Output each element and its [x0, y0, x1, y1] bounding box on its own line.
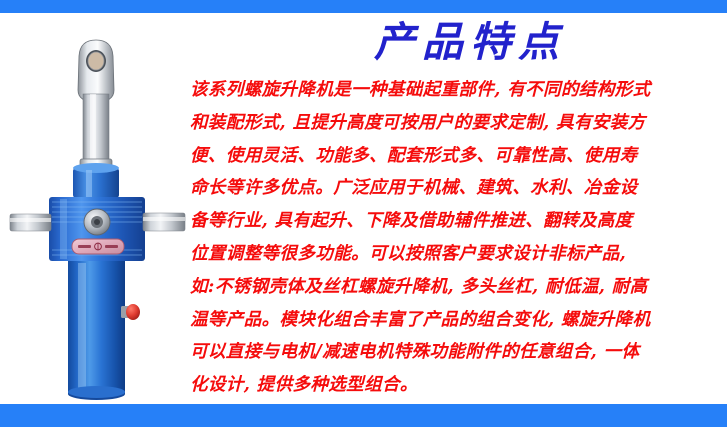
- text-panel: 产品特点 该系列螺旋升降机是一种基础起重部件, 有不同的结构形式 和装配形式, …: [190, 22, 690, 400]
- bottom-blue-bar: [0, 404, 727, 427]
- product-feature-banner: 产品特点 该系列螺旋升降机是一种基础起重部件, 有不同的结构形式 和装配形式, …: [0, 0, 727, 427]
- product-description: 该系列螺旋升降机是一种基础起重部件, 有不同的结构形式 和装配形式, 且提升高度…: [190, 74, 690, 402]
- clevis-end-fitting: [78, 40, 114, 102]
- protective-tube: [68, 261, 125, 400]
- top-blue-bar: [0, 0, 727, 13]
- description-line: 如:不锈钢壳体及丝杠螺旋升降机, 多头丝杠, 耐低温, 耐高: [190, 271, 690, 304]
- product-image: [8, 16, 188, 402]
- description-line: 该系列螺旋升降机是一种基础起重部件, 有不同的结构形式: [190, 74, 690, 107]
- input-shaft-left: [10, 214, 51, 231]
- description-line: 温等产品。模块化组合丰富了产品的组合变化, 螺旋升降机: [190, 304, 690, 337]
- input-shaft-right: [143, 213, 185, 231]
- protective-collar: [73, 163, 119, 198]
- description-line: 便、使用灵活、功能多、配套形式多、可靠性高、使用寿: [190, 140, 690, 173]
- description-line: 位置调整等很多功能。可以按照客户要求设计非标产品,: [190, 238, 690, 271]
- description-line: 可以直接与电机/减速电机特殊功能附件的任意组合, 一体: [190, 336, 690, 369]
- description-line: 备等行业, 具有起升、下降及借助辅件推进、翻转及高度: [190, 205, 690, 238]
- center-bolt: [84, 209, 110, 235]
- page-title: 产品特点: [190, 22, 690, 74]
- description-line: 和装配形式, 且提升高度可按用户的要求定制, 具有安装方: [190, 107, 690, 140]
- red-vent-plug: [121, 304, 140, 320]
- brand-nameplate: [72, 239, 124, 254]
- description-line: 化设计, 提供多种选型组合。: [190, 369, 690, 402]
- description-line: 命长等许多优点。广泛应用于机械、建筑、水利、冶金设: [190, 172, 690, 205]
